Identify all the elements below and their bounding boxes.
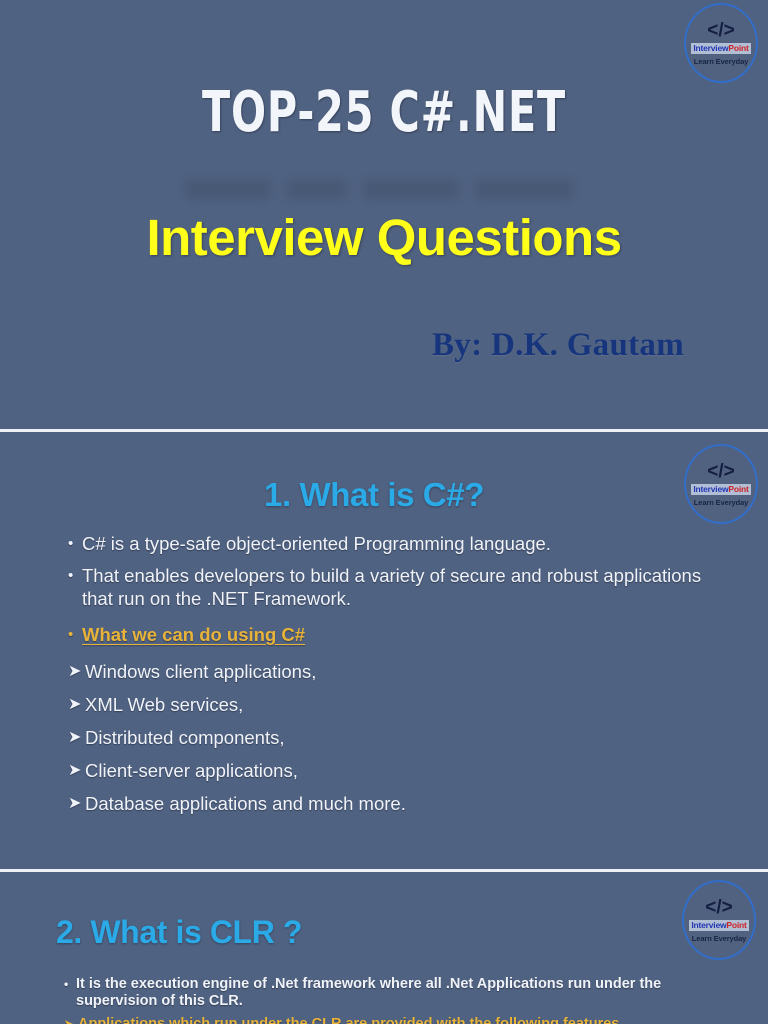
brand-word-point: Point	[726, 920, 746, 930]
list-item: • It is the execution engine of .Net fra…	[64, 976, 718, 1010]
arrow-bullet-icon: ➤	[68, 759, 85, 782]
list-item: • C# is a type-safe object-oriented Prog…	[68, 532, 708, 555]
bullet-dot-icon: •	[68, 623, 82, 646]
bullet-dot-icon: •	[68, 564, 82, 587]
list-item-label: C# is a type-safe object-oriented Progra…	[82, 532, 708, 555]
list-item: ➤ Client-server applications,	[68, 759, 708, 782]
arrow-bullet-icon: ➤	[68, 693, 85, 716]
brand-name: InterviewPoint	[689, 920, 748, 931]
list-item-label: Database applications and much more.	[85, 792, 708, 815]
list-item: ➤ Distributed components,	[68, 726, 708, 749]
brand-word-point: Point	[728, 43, 748, 53]
arrow-bullet-icon: ➤	[68, 726, 85, 749]
deck-subtitle: Interview Questions	[0, 208, 768, 267]
list-item-label: Windows client applications,	[85, 660, 708, 683]
list-item: ➤ Database applications and much more.	[68, 792, 708, 815]
bullet-dot-icon: •	[68, 532, 82, 555]
question-heading-2: 2. What is CLR ?	[56, 914, 302, 951]
author-byline: By: D.K. Gautam	[432, 327, 684, 364]
highlight-item: • What we can do using C#	[68, 623, 708, 646]
list-item-label: That enables developers to build a varie…	[82, 564, 708, 610]
list-item-label: Distributed components,	[85, 726, 708, 749]
slide-question-2: </> InterviewPoint Learn Everyday 2. Wha…	[0, 872, 768, 1024]
arrow-bullet-icon: ➤	[68, 792, 85, 815]
slide-title: </> InterviewPoint Learn Everyday TOP-25…	[0, 0, 768, 429]
code-brackets-icon: </>	[705, 898, 732, 917]
list-item: • That enables developers to build a var…	[68, 564, 708, 610]
arrow-bullet-icon: ➤	[64, 1016, 78, 1024]
deck-title: TOP-25 C#.NET	[69, 80, 699, 145]
list-item-label: It is the execution engine of .Net frame…	[76, 976, 718, 1010]
question-heading-1: 1. What is C#?	[0, 476, 768, 514]
list-item-label: XML Web services,	[85, 693, 708, 716]
brand-tagline: Learn Everyday	[694, 57, 748, 66]
code-brackets-icon: </>	[707, 21, 734, 40]
brand-tagline: Learn Everyday	[692, 934, 746, 943]
arrow-bullet-icon: ➤	[68, 660, 85, 683]
faded-ghost-text	[185, 172, 577, 206]
slide-deck: </> InterviewPoint Learn Everyday TOP-25…	[0, 0, 768, 1024]
brand-word-interview: Interview	[693, 43, 728, 53]
question-2-body: • It is the execution engine of .Net fra…	[64, 976, 718, 1024]
highlight-item-label: What we can do using C#	[82, 623, 708, 646]
list-item: ➤ Applications which run under the CLR a…	[64, 1016, 718, 1024]
list-item-label: Applications which run under the CLR are…	[78, 1016, 718, 1024]
brand-logo: </> InterviewPoint Learn Everyday	[682, 880, 756, 960]
brand-name: InterviewPoint	[691, 43, 750, 54]
list-item: ➤ XML Web services,	[68, 693, 708, 716]
list-item-label: Client-server applications,	[85, 759, 708, 782]
bullet-dot-icon: •	[64, 976, 76, 993]
question-1-body: • C# is a type-safe object-oriented Prog…	[68, 532, 708, 825]
brand-logo: </> InterviewPoint Learn Everyday	[684, 3, 758, 83]
slide-question-1: </> InterviewPoint Learn Everyday 1. Wha…	[0, 432, 768, 869]
brand-word-interview: Interview	[691, 920, 726, 930]
list-item: ➤ Windows client applications,	[68, 660, 708, 683]
